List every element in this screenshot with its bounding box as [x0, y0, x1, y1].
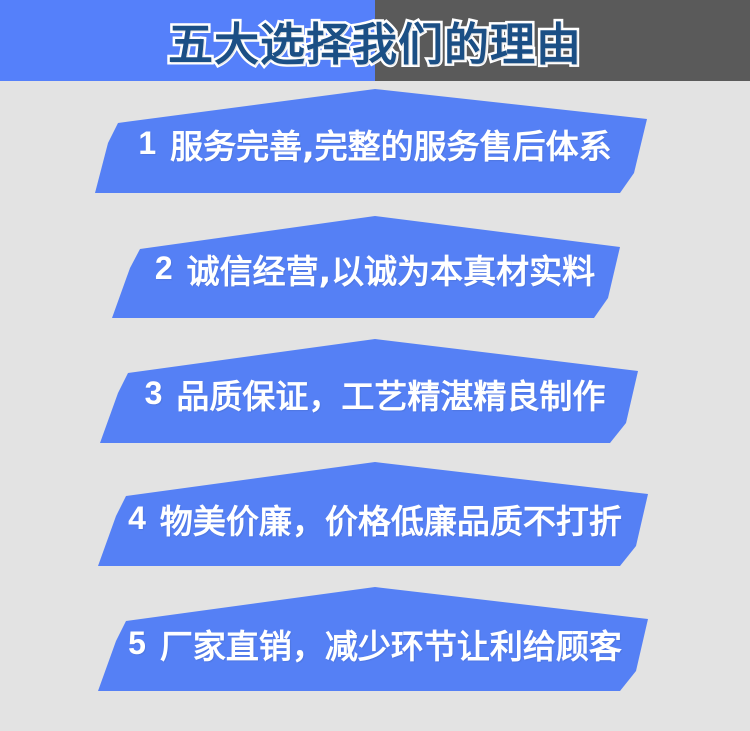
reason-text-1: 1 服务完善,完整的服务售后体系: [0, 81, 750, 206]
reason-item-1[interactable]: 1 服务完善,完整的服务售后体系: [0, 81, 750, 206]
page-title: 五大选择我们的理由: [0, 0, 750, 81]
reason-text-3: 3 品质保证，工艺精湛精良制作: [0, 331, 750, 456]
reason-text-5: 5 厂家直销，减少环节让利给顾客: [0, 581, 750, 706]
reason-number-1: 1: [138, 125, 156, 162]
reason-label-4: 物美价廉，价格低廉品质不打折: [160, 495, 622, 543]
reason-item-5[interactable]: 5 厂家直销，减少环节让利给顾客: [0, 581, 750, 706]
reason-label-5: 厂家直销，减少环节让利给顾客: [160, 620, 622, 668]
reason-number-4: 4: [128, 500, 146, 537]
reason-label-2: 诚信经营,以诚为本真材实料: [187, 245, 596, 293]
reason-number-2: 2: [155, 250, 173, 287]
reason-item-3[interactable]: 3 品质保证，工艺精湛精良制作: [0, 331, 750, 456]
reason-number-3: 3: [145, 375, 163, 412]
reason-item-4[interactable]: 4 物美价廉，价格低廉品质不打折: [0, 456, 750, 581]
reason-number-5: 5: [128, 625, 146, 662]
reason-item-2[interactable]: 2 诚信经营,以诚为本真材实料: [0, 206, 750, 331]
reason-label-3: 品质保证，工艺精湛精良制作: [176, 370, 605, 418]
reason-text-4: 4 物美价廉，价格低廉品质不打折: [0, 456, 750, 581]
reason-label-1: 服务完善,完整的服务售后体系: [170, 120, 612, 168]
reason-list: 1 服务完善,完整的服务售后体系 2 诚信经营,以诚为本真材实料 3 品质保证，…: [0, 81, 750, 731]
reason-text-2: 2 诚信经营,以诚为本真材实料: [0, 206, 750, 331]
page-header: 五大选择我们的理由: [0, 0, 750, 81]
